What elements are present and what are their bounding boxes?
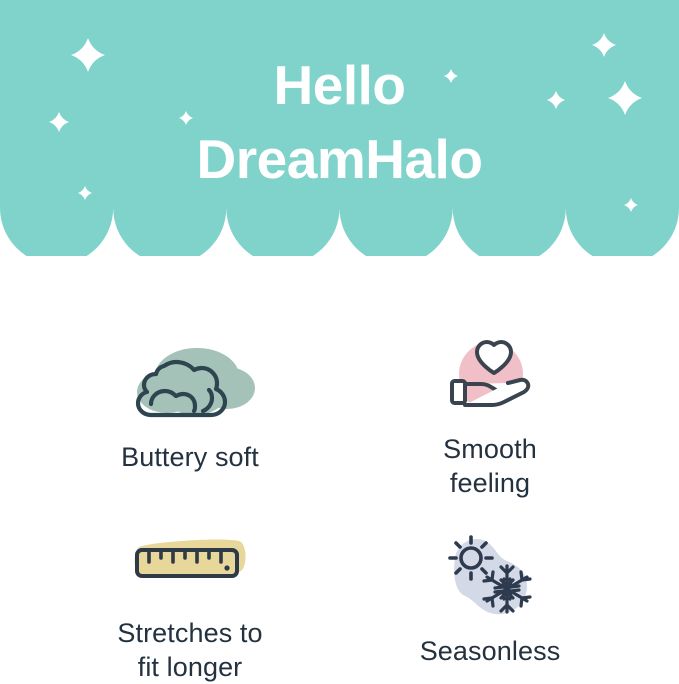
- sparkle-tiny-right-low: [624, 198, 638, 212]
- feature-grid: Buttery soft Smooth feeling: [0, 256, 679, 676]
- page-title: Hello DreamHalo: [0, 48, 679, 196]
- infographic-page: Hello DreamHalo Buttery soft: [0, 0, 679, 676]
- feature-label-smooth-feeling: Smooth feeling: [340, 432, 640, 500]
- sun-snowflake-icon: [415, 528, 565, 620]
- header-banner: Hello DreamHalo: [0, 0, 679, 256]
- feature-label-buttery-soft: Buttery soft: [40, 440, 340, 474]
- feature-item-buttery-soft: Buttery soft: [40, 336, 340, 474]
- cloud-icon: [115, 336, 265, 428]
- ruler-hole: [224, 565, 229, 570]
- feature-label-stretches: Stretches to fit longer: [40, 616, 340, 684]
- feature-label-seasonless: Seasonless: [340, 634, 640, 668]
- feature-item-smooth-feeling: Smooth feeling: [340, 328, 640, 500]
- feature-item-seasonless: Seasonless: [340, 528, 640, 668]
- ruler-icon: [115, 528, 265, 598]
- feature-item-stretches: Stretches to fit longer: [40, 528, 340, 684]
- heart-in-hand-icon: [415, 328, 565, 420]
